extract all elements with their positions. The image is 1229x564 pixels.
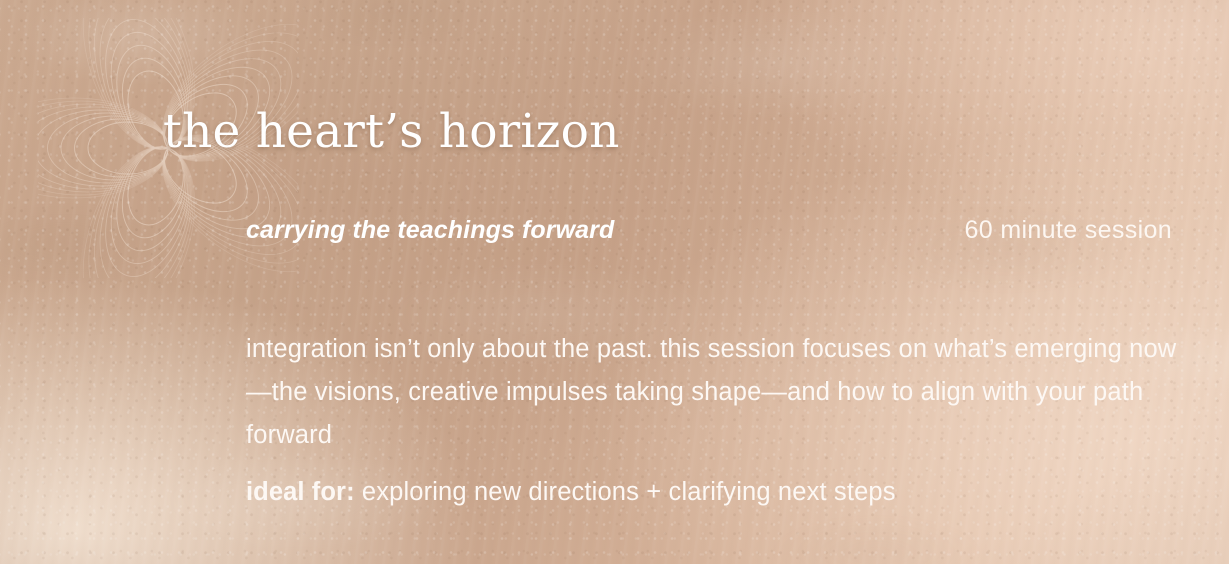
- page-subtitle: carrying the teachings forward: [246, 216, 614, 245]
- ideal-for-value: exploring new directions + clarifying ne…: [362, 478, 896, 506]
- session-card: the heart’s horizon carrying the teachin…: [0, 0, 1229, 564]
- session-description: integration isn’t only about the past. t…: [246, 328, 1196, 457]
- ideal-for-line: ideal for: exploring new directions + cl…: [246, 474, 896, 510]
- subtitle-row: carrying the teachings forward 60 minute…: [246, 216, 1172, 245]
- session-duration: 60 minute session: [965, 216, 1172, 245]
- ideal-for-label: ideal for:: [246, 478, 362, 506]
- page-title: the heart’s horizon: [163, 108, 620, 155]
